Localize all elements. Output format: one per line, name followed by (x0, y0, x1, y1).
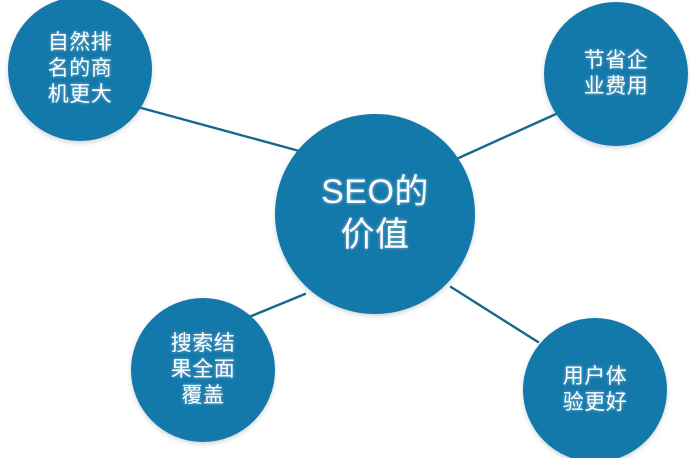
node-save-enterprise-cost[interactable]: 节省企 业费用 (544, 2, 688, 146)
connector-center-to-top-left (134, 106, 303, 152)
connector-center-to-bottom-right (451, 287, 538, 342)
node-seo-value-label: SEO的 价值 (321, 171, 429, 257)
node-better-user-experience[interactable]: 用户体 验更好 (523, 318, 667, 458)
node-organic-ranking-opportunity-label: 自然排 名的商 机更大 (48, 30, 113, 109)
node-full-search-coverage[interactable]: 搜索结 果全面 覆盖 (131, 298, 275, 442)
node-save-enterprise-cost-label: 节省企 业费用 (584, 48, 649, 101)
connector-center-to-top-right (452, 114, 556, 161)
node-full-search-coverage-label: 搜索结 果全面 覆盖 (171, 331, 236, 410)
node-better-user-experience-label: 用户体 验更好 (563, 364, 628, 417)
diagram-canvas: SEO的 价值 自然排 名的商 机更大 节省企 业费用 搜索结 果全面 覆盖 用… (0, 0, 690, 458)
connector-center-to-bottom-left (249, 294, 305, 317)
node-organic-ranking-opportunity[interactable]: 自然排 名的商 机更大 (8, 0, 152, 141)
node-seo-value[interactable]: SEO的 价值 (275, 114, 475, 314)
